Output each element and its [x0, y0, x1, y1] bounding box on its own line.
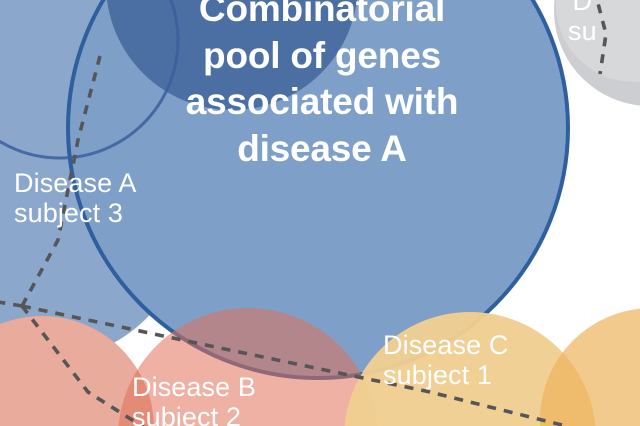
label-disease-c-subject-1: Disease C subject 1	[383, 330, 508, 390]
label-disease-d-partial: D su	[568, 0, 597, 46]
figure-canvas: Combinatorial pool of genes associated w…	[0, 0, 640, 426]
label-disease-a-subject-3: Disease A subject 3	[14, 168, 136, 228]
page-title: Combinatorial pool of genes associated w…	[122, 0, 522, 172]
circle-tan-right	[540, 308, 640, 426]
label-disease-b-subject-2: Disease B subject 2	[132, 372, 256, 426]
